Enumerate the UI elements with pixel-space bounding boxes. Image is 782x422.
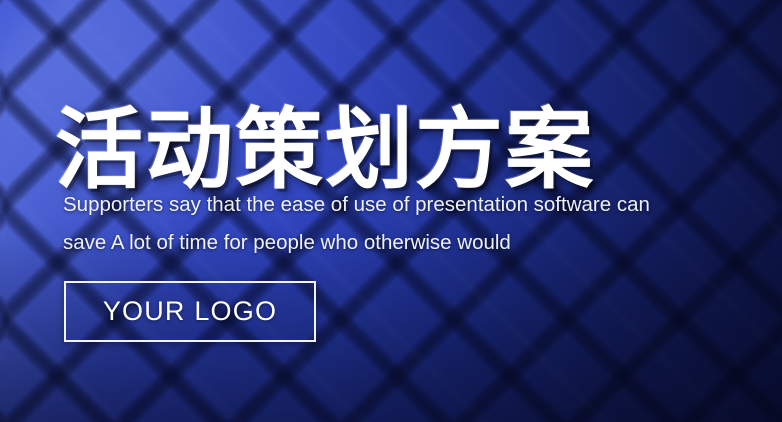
- subtitle-line-2: save A lot of time for people who otherw…: [63, 224, 763, 262]
- slide-subtitle: Supporters say that the ease of use of p…: [63, 186, 763, 262]
- logo-placeholder-box[interactable]: YOUR LOGO: [64, 281, 316, 342]
- subtitle-line-1: Supporters say that the ease of use of p…: [63, 186, 763, 224]
- slide-content: 活动策划方案 Supporters say that the ease of u…: [0, 0, 782, 422]
- slide-title: 活动策划方案: [55, 106, 595, 194]
- presentation-slide: 活动策划方案 Supporters say that the ease of u…: [0, 0, 782, 422]
- logo-placeholder-label: YOUR LOGO: [103, 296, 277, 327]
